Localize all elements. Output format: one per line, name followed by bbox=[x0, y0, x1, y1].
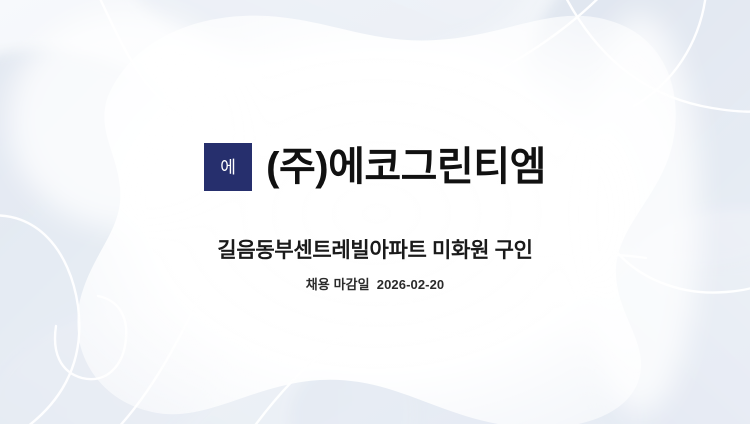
company-logo-glyph: 에 bbox=[220, 159, 236, 176]
company-header: 에 (주)에코그린티엠 bbox=[0, 143, 750, 191]
job-posting-banner: 에 (주)에코그린티엠 길음동부센트레빌아파트 미화원 구인 채용 마감일202… bbox=[0, 0, 750, 424]
company-name: (주)에코그린티엠 bbox=[266, 147, 546, 187]
deadline-line: 채용 마감일2026-02-20 bbox=[0, 277, 750, 293]
deadline-label: 채용 마감일 bbox=[306, 277, 370, 292]
company-logo-badge: 에 bbox=[204, 143, 252, 191]
job-title: 길음동부센트레빌아파트 미화원 구인 bbox=[0, 238, 750, 263]
deadline-date: 2026-02-20 bbox=[377, 277, 445, 292]
banner-content: 에 (주)에코그린티엠 길음동부센트레빌아파트 미화원 구인 채용 마감일202… bbox=[0, 0, 750, 424]
